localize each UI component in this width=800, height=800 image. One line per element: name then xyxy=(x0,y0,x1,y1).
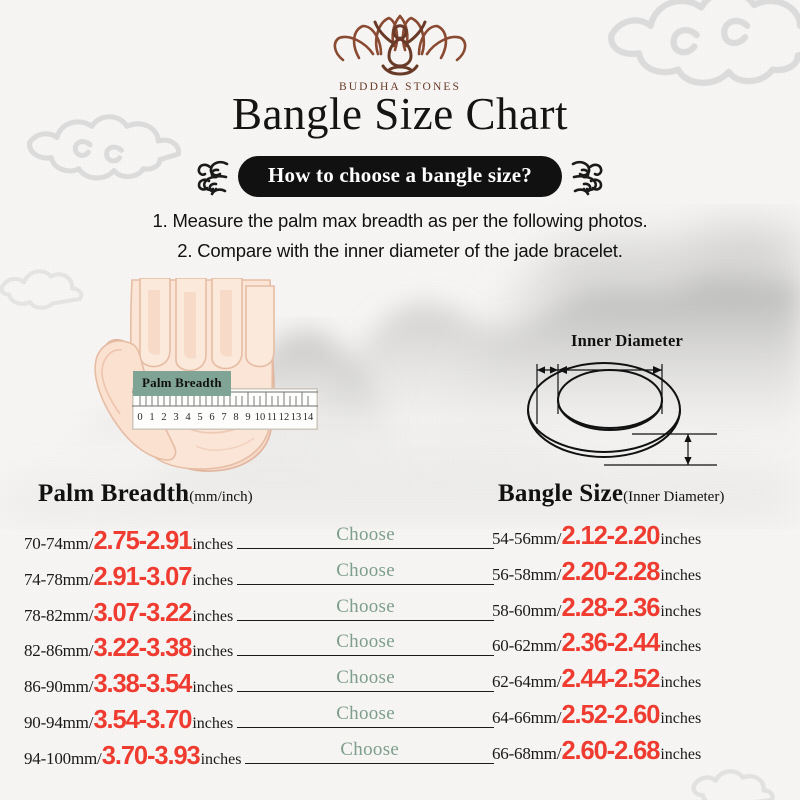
size-unit: inches xyxy=(660,674,701,692)
palm-breadth-table: 70-74mm/2.75-2.91inchesChoose74-78mm/2.9… xyxy=(24,524,494,775)
size-inches: 3.38-3.54 xyxy=(93,672,191,698)
size-inches: 2.12-2.20 xyxy=(561,524,659,550)
size-mm: 66-68mm xyxy=(492,744,557,764)
table-row: 56-58mm/2.20-2.28inches xyxy=(492,560,792,596)
ruler-tick-4: 4 xyxy=(185,412,191,423)
cloud-flourish-left-icon xyxy=(196,157,232,197)
size-mm: 78-82mm xyxy=(24,606,89,626)
instruction-line-2: 2. Compare with the inner diameter of th… xyxy=(0,236,800,266)
size-mm: 86-90mm xyxy=(24,677,89,697)
ruler-tick-13: 13 xyxy=(291,412,302,423)
page-title: Bangle Size Chart xyxy=(0,88,800,140)
choose-label[interactable]: Choose xyxy=(237,560,494,582)
choose-size-field[interactable]: Choose xyxy=(245,739,494,764)
size-mm: 54-56mm xyxy=(492,529,557,549)
table-row[interactable]: 78-82mm/3.07-3.22inchesChoose xyxy=(24,596,494,632)
size-mm: 62-64mm xyxy=(492,672,557,692)
choose-label[interactable]: Choose xyxy=(237,631,494,653)
choose-label[interactable]: Choose xyxy=(237,524,494,546)
size-unit: inches xyxy=(192,679,233,697)
palm-breadth-section-header: Palm Breadth(mm/inch) xyxy=(38,480,253,508)
brand-logo: BUDDHA STONES xyxy=(0,8,800,93)
size-unit: inches xyxy=(201,751,242,769)
table-row[interactable]: 82-86mm/3.22-3.38inchesChoose xyxy=(24,631,494,667)
size-inches: 2.52-2.60 xyxy=(561,703,659,729)
palm-breadth-section-subtitle: (mm/inch) xyxy=(189,489,252,505)
how-to-choose-banner: How to choose a bangle size? xyxy=(0,156,800,197)
table-row[interactable]: 70-74mm/2.75-2.91inchesChoose xyxy=(24,524,494,560)
size-unit: inches xyxy=(192,608,233,626)
size-mm: 74-78mm xyxy=(24,570,89,590)
instructions-list: 1. Measure the palm max breadth as per t… xyxy=(0,206,800,266)
lotus-meditation-icon xyxy=(331,8,469,80)
table-row[interactable]: 86-90mm/3.38-3.54inchesChoose xyxy=(24,667,494,703)
choose-size-field[interactable]: Choose xyxy=(237,703,494,728)
table-row: 58-60mm/2.28-2.36inches xyxy=(492,596,792,632)
ruler-tick-2: 2 xyxy=(161,412,166,423)
bangle-size-section-title: Bangle Size xyxy=(498,480,623,507)
bangle-size-table: 54-56mm/2.12-2.20inches56-58mm/2.20-2.28… xyxy=(492,524,792,775)
ruler-tick-10: 10 xyxy=(255,412,266,423)
table-row[interactable]: 90-94mm/3.54-3.70inchesChoose xyxy=(24,703,494,739)
size-unit: inches xyxy=(660,710,701,728)
size-inches: 2.91-3.07 xyxy=(93,565,191,591)
table-row[interactable]: 94-100mm/3.70-3.93inchesChoose xyxy=(24,739,494,775)
size-mm: 90-94mm xyxy=(24,713,89,733)
size-unit: inches xyxy=(660,531,701,549)
ruler-tick-8: 8 xyxy=(233,412,238,423)
bangle-size-section-subtitle: (Inner Diameter) xyxy=(623,489,724,505)
ruler-tick-3: 3 xyxy=(173,412,178,423)
cloud-flourish-right-icon xyxy=(568,157,604,197)
palm-breadth-section-title: Palm Breadth xyxy=(38,480,189,507)
palm-breadth-label: Palm Breadth xyxy=(133,371,231,396)
size-unit: inches xyxy=(660,746,701,764)
choose-label[interactable]: Choose xyxy=(237,703,494,725)
size-unit: inches xyxy=(660,638,701,656)
bangle-ring-icon xyxy=(492,328,762,476)
ruler-tick-11: 11 xyxy=(267,412,277,423)
instruction-line-1: 1. Measure the palm max breadth as per t… xyxy=(0,206,800,236)
size-inches: 2.75-2.91 xyxy=(93,529,191,555)
how-to-choose-pill: How to choose a bangle size? xyxy=(238,156,562,197)
size-inches: 3.22-3.38 xyxy=(93,636,191,662)
size-mm: 58-60mm xyxy=(492,601,557,621)
size-mm: 56-58mm xyxy=(492,565,557,585)
choose-size-field[interactable]: Choose xyxy=(237,596,494,621)
size-inches: 3.70-3.93 xyxy=(102,744,200,770)
ruler-tick-0: 0 xyxy=(137,412,142,423)
choose-size-field[interactable]: Choose xyxy=(237,667,494,692)
size-unit: inches xyxy=(660,603,701,621)
size-mm: 70-74mm xyxy=(24,534,89,554)
ruler-tick-14: 14 xyxy=(303,412,314,423)
table-row: 62-64mm/2.44-2.52inches xyxy=(492,667,792,703)
size-inches: 2.28-2.36 xyxy=(561,596,659,622)
table-row: 54-56mm/2.12-2.20inches xyxy=(492,524,792,560)
size-inches: 2.20-2.28 xyxy=(561,560,659,586)
ruler-tick-5: 5 xyxy=(197,412,202,423)
size-inches: 2.60-2.68 xyxy=(561,739,659,765)
size-unit: inches xyxy=(192,643,233,661)
bangle-size-section-header: Bangle Size(Inner Diameter) xyxy=(498,480,724,508)
size-inches: 2.36-2.44 xyxy=(561,631,659,657)
size-mm: 64-66mm xyxy=(492,708,557,728)
size-mm: 94-100mm xyxy=(24,749,97,769)
table-row[interactable]: 74-78mm/2.91-3.07inchesChoose xyxy=(24,560,494,596)
choose-label[interactable]: Choose xyxy=(237,596,494,618)
size-unit: inches xyxy=(192,572,233,590)
ruler-tick-9: 9 xyxy=(245,412,250,423)
size-unit: inches xyxy=(660,567,701,585)
ruler-tick-7: 7 xyxy=(221,412,226,423)
table-row: 64-66mm/2.52-2.60inches xyxy=(492,703,792,739)
table-row: 60-62mm/2.36-2.44inches xyxy=(492,631,792,667)
ruler-tick-12: 12 xyxy=(279,412,290,423)
table-row: 66-68mm/2.60-2.68inches xyxy=(492,739,792,775)
size-inches: 3.07-3.22 xyxy=(93,601,191,627)
size-inches: 3.54-3.70 xyxy=(93,708,191,734)
size-inches: 2.44-2.52 xyxy=(561,667,659,693)
size-unit: inches xyxy=(192,536,233,554)
ruler-tick-6: 6 xyxy=(209,412,214,423)
choose-label[interactable]: Choose xyxy=(245,739,494,761)
size-unit: inches xyxy=(192,715,233,733)
choose-size-field[interactable]: Choose xyxy=(237,524,494,549)
size-mm: 60-62mm xyxy=(492,636,557,656)
ruler-tick-1: 1 xyxy=(149,412,154,423)
choose-size-field[interactable]: Choose xyxy=(237,560,494,585)
size-mm: 82-86mm xyxy=(24,641,89,661)
choose-label[interactable]: Choose xyxy=(237,667,494,689)
choose-size-field[interactable]: Choose xyxy=(237,631,494,656)
